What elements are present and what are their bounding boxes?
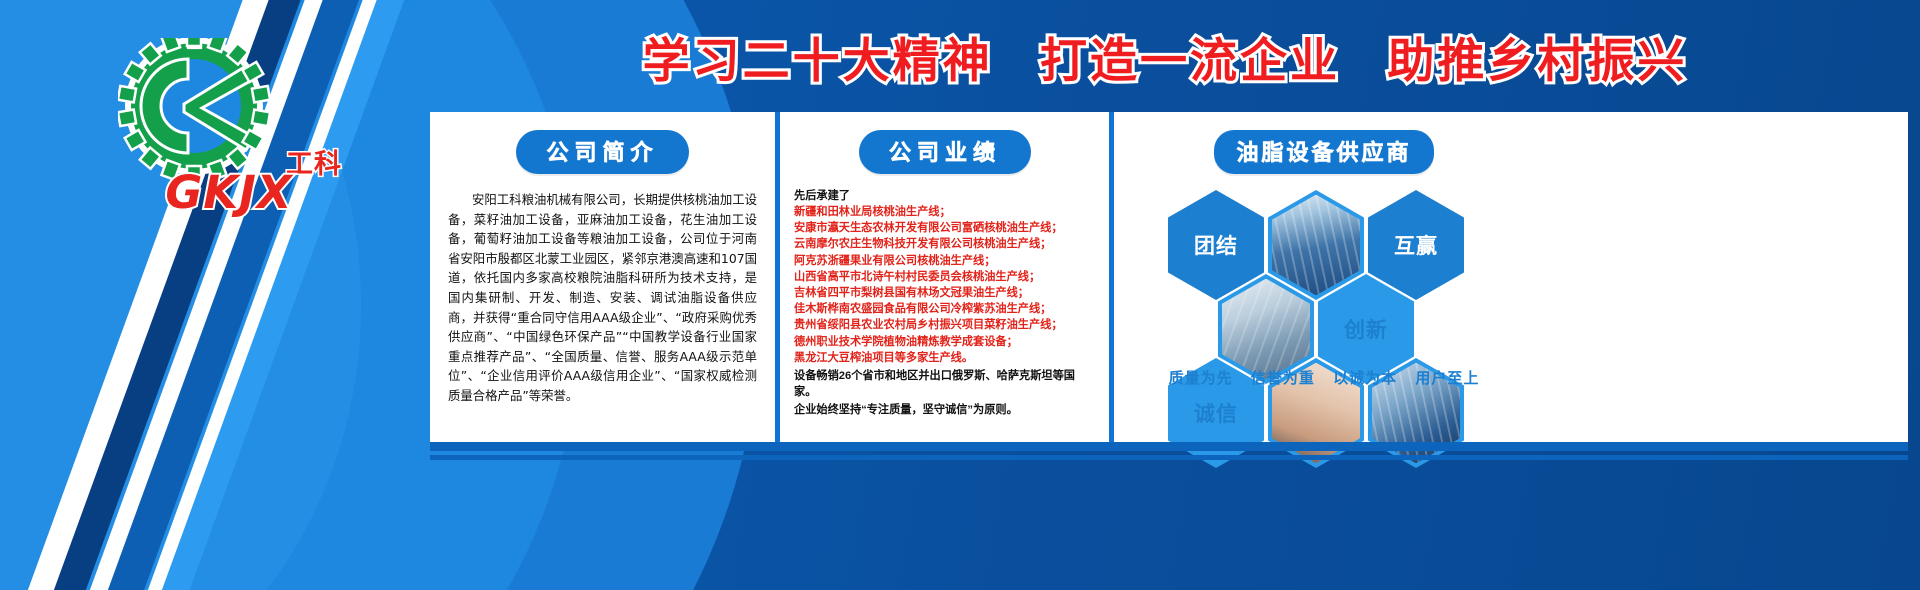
performance-list: 新疆和田林业局核桃油生产线；安康市瀛天生态农林开发有限公司富硒核桃油生产线；云南…	[794, 204, 1096, 366]
panel-supplier: 油脂设备供应商 团结 互赢 创新	[1114, 112, 1534, 442]
logo-wordmark: GKJX	[124, 166, 334, 219]
board-underline	[430, 442, 1908, 451]
hex-label-1: 团结	[1194, 230, 1238, 260]
company-profile-body: 安阳工科粮油机械有限公司，长期提供核桃油加工设备，菜籽油加工设备，亚麻油加工设备…	[448, 190, 757, 406]
hex-label-5: 创新	[1344, 314, 1388, 344]
performance-item: 新疆和田林业局核桃油生产线；	[794, 204, 1096, 220]
hex-label-3: 互赢	[1394, 230, 1438, 260]
performance-item: 黑龙江大豆榨油项目等多家生产线。	[794, 350, 1096, 366]
performance-tail: 设备畅销26个省市和地区并出口俄罗斯、哈萨克斯坦等国家。企业始终坚持“专注质量，…	[794, 368, 1096, 419]
panel-title-company-performance: 公司业绩	[859, 130, 1031, 174]
performance-item: 阿克苏浙疆果业有限公司核桃油生产线；	[794, 253, 1096, 269]
company-logo: 工科 GKJX	[118, 38, 338, 208]
performance-item: 山西省高平市北诗午村村民委员会核桃油生产线；	[794, 269, 1096, 285]
performance-note: 设备畅销26个省市和地区并出口俄罗斯、哈萨克斯坦等国家。	[794, 368, 1096, 400]
supplier-slogan: 质量为先 信誉为重 以诚为本 用户至上	[1114, 367, 1534, 388]
performance-item: 德州职业技术学院植物油精炼教学成套设备；	[794, 334, 1096, 350]
performance-item: 佳木斯桦南农盛园食品有限公司冷榨紫苏油生产线；	[794, 301, 1096, 317]
panel-company-profile: 公司简介 安阳工科粮油机械有限公司，长期提供核桃油加工设备，菜籽油加工设备，亚麻…	[430, 112, 775, 442]
headline-segment-3: 助推乡村振兴	[1387, 34, 1687, 89]
slogan-part-4: 用户至上	[1415, 369, 1479, 387]
headline-segment-2: 打造一流企业	[1040, 34, 1340, 89]
panel-title-supplier: 油脂设备供应商	[1214, 130, 1433, 174]
hex-label-6: 诚信	[1194, 398, 1238, 428]
slogan-part-1: 质量为先	[1169, 369, 1233, 387]
content-board: 公司简介 安阳工科粮油机械有限公司，长期提供核桃油加工设备，菜籽油加工设备，亚麻…	[430, 112, 1908, 442]
panel-company-performance: 公司业绩 先后承建了 新疆和田林业局核桃油生产线；安康市瀛天生态农林开发有限公司…	[780, 112, 1110, 442]
aircraft-carrier-photo	[1272, 195, 1360, 296]
slogan-part-2: 信誉为重	[1251, 369, 1315, 387]
ship-photo	[1222, 279, 1310, 380]
performance-item: 云南摩尔农庄生物科技开发有限公司核桃油生产线；	[794, 236, 1096, 252]
performance-lead: 先后承建了	[794, 188, 1096, 204]
slogan-part-3: 以诚为本	[1333, 369, 1397, 387]
page-title: 学习二十大精神 打造一流企业 助推乡村振兴	[430, 22, 1900, 91]
performance-item: 安康市瀛天生态农林开发有限公司富硒核桃油生产线；	[794, 220, 1096, 236]
poster-canvas: 工科 GKJX 学习二十大精神 打造一流企业 助推乡村振兴 公司简介 安阳工科粮…	[0, 0, 1920, 590]
performance-item: 贵州省绥阳县农业农村局乡村振兴项目菜籽油生产线；	[794, 317, 1096, 333]
board-underline-secondary	[430, 455, 1908, 460]
performance-item: 吉林省四平市梨树县国有林场文冠果油生产线；	[794, 285, 1096, 301]
panel-title-company-profile: 公司简介	[516, 130, 688, 174]
headline-segment-1: 学习二十大精神	[643, 34, 993, 89]
performance-note: 企业始终坚持“专注质量，坚守诚信”为原则。	[794, 402, 1096, 418]
